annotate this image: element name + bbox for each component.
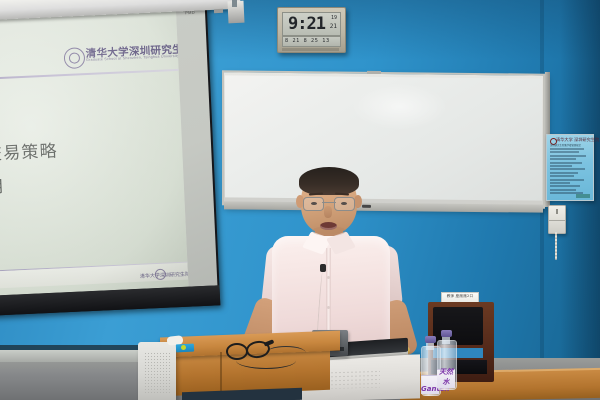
hair: [299, 167, 359, 195]
bottle-neck: [426, 342, 434, 350]
bottle-cap: [441, 330, 452, 337]
chair-sign-text: 教师 座席席2口: [442, 294, 478, 299]
sticky-note-dot: [181, 345, 186, 350]
clock-lower-trim: [282, 48, 339, 51]
projected-slide: 清华大学深圳研究生院 Graduate School at Shenzhen, …: [0, 9, 188, 298]
intercom-cord: [555, 232, 557, 260]
notice-stamp: [576, 194, 590, 198]
shirt-button: [327, 306, 330, 309]
ear-right: [354, 195, 362, 208]
cabinet-vents: [144, 352, 170, 394]
notice-subtitle: 深圳研究生院教学楼管理规定: [550, 143, 581, 147]
intercom-seam: [549, 220, 565, 221]
wall-notice-board: 清华大学 深圳研究生院 深圳研究生院教学楼管理规定: [546, 134, 594, 201]
water-bottle: 天然水: [437, 328, 455, 390]
lens-right: [334, 197, 355, 211]
wall-clock: 9:21 19 21 8 21 8 25 13: [277, 7, 346, 53]
notice-text-lines: [550, 148, 590, 193]
clock-date: 8 21 8 25 13: [285, 37, 330, 46]
whiteboard-top-hinge: [367, 71, 381, 74]
intercom-led: [556, 209, 558, 214]
equipment-cabinet: [138, 342, 176, 400]
lapel-microphone-icon: [320, 264, 326, 272]
clock-main-display: 9:21 19 21: [282, 12, 341, 36]
clock-small-top: 19: [331, 15, 337, 21]
screen-brand-label: PMD: [185, 10, 195, 15]
eyeglasses-on-podium-icon: [226, 341, 272, 357]
mouth: [320, 222, 337, 230]
whiteboard-glare: [351, 82, 448, 130]
clock-small-bottom: 21: [330, 23, 337, 30]
projection-screen: 清华大学深圳研究生院 Graduate School at Shenzhen, …: [0, 6, 220, 318]
slide-light-vignette: [0, 9, 188, 298]
bottle-label-text: 天然水: [437, 367, 455, 387]
shirt-button: [327, 276, 330, 279]
desk-lens-left: [226, 343, 248, 360]
intercom-handset-icon[interactable]: [548, 205, 566, 234]
bottle-neck: [442, 336, 450, 344]
screen-housing-badge: [214, 9, 223, 13]
podium-panel-seam: [220, 352, 222, 392]
clock-time: 9:21: [288, 14, 325, 34]
lecture-hall-photo: 清华大学深圳研究生院 Graduate School at Shenzhen, …: [0, 0, 600, 400]
screen-mount-bracket: [232, 0, 237, 7]
glasses-bridge: [322, 202, 336, 203]
nose: [324, 206, 332, 218]
clock-date-display: 8 21 8 25 13: [282, 36, 341, 47]
bottle-cap: [425, 336, 436, 343]
lens-left: [303, 197, 324, 211]
